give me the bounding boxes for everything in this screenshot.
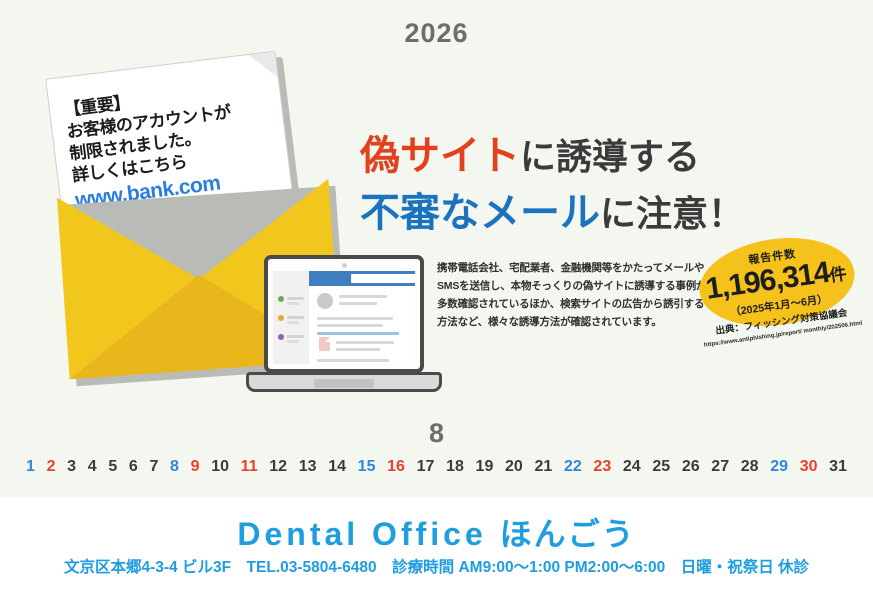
calendar-day-15: 15 <box>358 458 376 476</box>
calendar-day-1: 1 <box>26 458 35 476</box>
calendar-day-28: 28 <box>741 458 759 476</box>
mail-folder-row <box>278 335 304 339</box>
body-copy-line-4: 方法など、様々な誘導方法が確認されています。 <box>437 313 685 331</box>
calendar-day-18: 18 <box>446 458 464 476</box>
clinic-address-line: 文京区本郷4-3-4 ビル3F TEL.03-5804-6480 診療時間 AM… <box>0 555 873 577</box>
calendar-poster: 2026 【重要】 お客様のアカウントが 制限されました。 詳しくはこちら ww… <box>0 0 873 595</box>
laptop-lid <box>264 255 424 373</box>
calendar-day-5: 5 <box>108 458 117 476</box>
mail-text-line <box>339 295 387 298</box>
body-copy-block: 携帯電話会社、宅配業者、金融機関等をかたってメールや SMSを送信し、本物そっく… <box>437 259 685 331</box>
attachment-document-icon <box>319 337 330 351</box>
headline-line-2: 不審なメールに注意！ <box>360 185 790 242</box>
clinic-name-jp: ほんごう <box>500 516 636 552</box>
headline-emphasis-blue: 不審なメール <box>360 191 600 235</box>
mail-link-line <box>317 332 399 335</box>
laptop-illustration <box>246 255 442 405</box>
calendar-day-24: 24 <box>623 458 641 476</box>
calendar-day-16: 16 <box>387 458 405 476</box>
calendar-day-27: 27 <box>711 458 729 476</box>
calendar-day-2: 2 <box>47 458 56 476</box>
purple-dot-icon <box>278 334 284 340</box>
folder-sub-bar <box>287 302 299 305</box>
calendar-day-3: 3 <box>67 458 76 476</box>
folder-label-bar <box>287 297 304 300</box>
calendar-day-19: 19 <box>476 458 494 476</box>
calendar-day-6: 6 <box>129 458 138 476</box>
body-copy-line-3: 多数確認されているほか、検索サイトの広告から誘引する <box>437 295 685 313</box>
calendar-day-10: 10 <box>211 458 229 476</box>
calendar-day-23: 23 <box>593 458 611 476</box>
sender-avatar <box>317 293 333 309</box>
mail-text-line <box>317 317 393 320</box>
calendar-day-14: 14 <box>328 458 346 476</box>
calendar-day-17: 17 <box>417 458 435 476</box>
mail-folder-row <box>278 316 304 320</box>
green-dot-icon <box>278 296 284 302</box>
headline-emphasis-red: 偽サイト <box>360 134 520 178</box>
calendar-date-strip: 1234567891011121314151617181920212223242… <box>26 458 847 476</box>
folder-label-bar <box>287 316 304 319</box>
calendar-day-8: 8 <box>170 458 179 476</box>
folder-label-bar <box>287 335 304 338</box>
calendar-day-29: 29 <box>770 458 788 476</box>
body-copy-line-1: 携帯電話会社、宅配業者、金融機関等をかたってメールや <box>437 259 685 277</box>
statistic-badge: 報告件数 1,196,314件 （2025年1月〜6月） 出典：フィッシング対策… <box>683 226 873 369</box>
calendar-day-13: 13 <box>299 458 317 476</box>
headline-block: 偽サイトに誘導する 不審なメールに注意！ <box>360 128 790 242</box>
calendar-day-11: 11 <box>241 458 258 476</box>
calendar-day-25: 25 <box>652 458 670 476</box>
calendar-day-20: 20 <box>505 458 523 476</box>
headline-rest-2: に注意！ <box>600 193 744 234</box>
mail-text-line <box>317 324 383 327</box>
folder-sub-bar <box>287 321 299 324</box>
headline-rest-1: に誘導する <box>520 136 700 177</box>
headline-line-1: 偽サイトに誘導する <box>360 128 790 185</box>
calendar-month: 8 <box>0 418 873 449</box>
footer-band: Dental Office ほんごう 文京区本郷4-3-4 ビル3F TEL.0… <box>0 497 873 595</box>
webcam-icon <box>342 263 347 268</box>
mail-text-line <box>336 341 394 344</box>
calendar-day-30: 30 <box>800 458 818 476</box>
body-copy-line-2: SMSを送信し、本物そっくりの偽サイトに誘導する事例が <box>437 277 685 295</box>
mail-search-field <box>351 274 415 283</box>
calendar-day-4: 4 <box>88 458 97 476</box>
calendar-day-7: 7 <box>149 458 158 476</box>
clinic-name-en: Dental Office <box>237 516 486 552</box>
folder-sub-bar <box>287 340 299 343</box>
laptop-trackpad <box>314 379 374 388</box>
calendar-day-9: 9 <box>191 458 200 476</box>
badge-number-unit: 件 <box>828 264 846 285</box>
calendar-day-26: 26 <box>682 458 700 476</box>
calendar-day-12: 12 <box>269 458 287 476</box>
mail-text-line <box>336 348 380 351</box>
laptop-base <box>246 372 442 392</box>
mail-text-line <box>339 302 377 305</box>
mail-text-line <box>317 359 389 362</box>
orange-dot-icon <box>278 315 284 321</box>
mail-header-bar <box>309 271 415 286</box>
clinic-name: Dental Office ほんごう <box>0 509 873 555</box>
calendar-day-21: 21 <box>534 458 552 476</box>
laptop-screen <box>273 271 415 364</box>
calendar-day-22: 22 <box>564 458 582 476</box>
mail-folder-row <box>278 297 304 301</box>
calendar-day-31: 31 <box>829 458 847 476</box>
mail-sidebar <box>273 271 309 364</box>
